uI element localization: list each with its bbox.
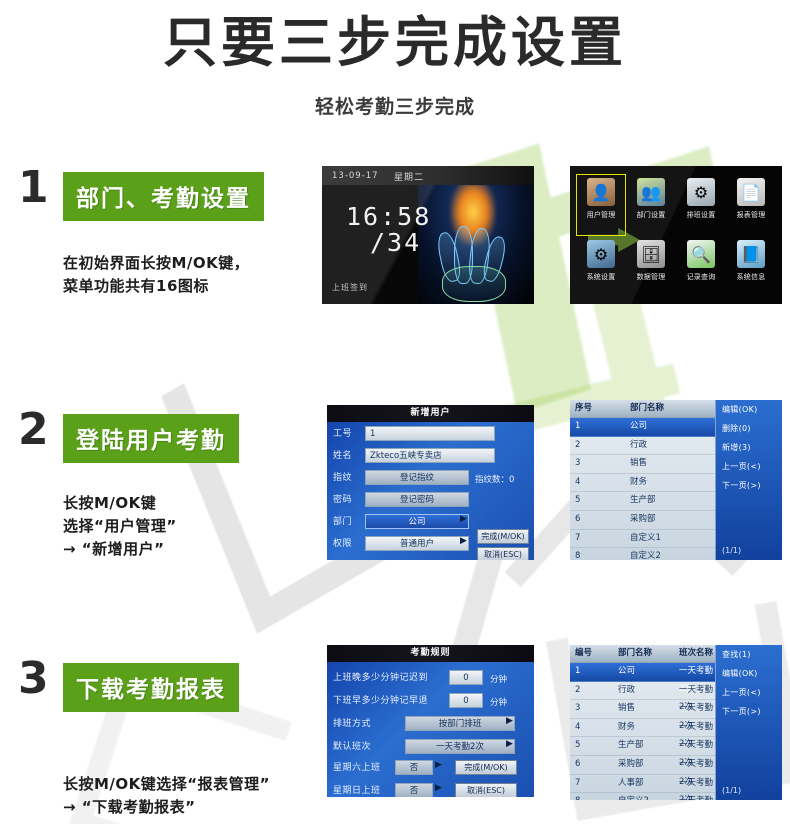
department-icon: 👥	[637, 178, 665, 206]
table-row[interactable]: 3 销售 一天考勤2次	[570, 700, 716, 719]
step-desc-line: 选择“用户管理”	[63, 515, 177, 538]
cell-dept: 销售	[613, 700, 674, 718]
table-row[interactable]: 1 公司 一天考勤2次	[570, 663, 716, 682]
table-row[interactable]: 7 人事部 一天考勤2次	[570, 775, 716, 794]
ok-button[interactable]: 完成(M/OK)	[477, 529, 529, 544]
cell-shift: 一天考勤2次	[674, 682, 716, 700]
cell-no: 7	[570, 530, 625, 548]
rule-label: 排班方式	[333, 715, 371, 733]
cell-dept: 生产部	[613, 737, 674, 755]
cell-name: 公司	[625, 418, 716, 436]
step-banner-label: 登陆用户考勤	[63, 414, 239, 463]
menu-item-data-management[interactable]: 🗄 数据管理	[626, 236, 676, 298]
table-row[interactable]: 6 采购部 一天考勤2次	[570, 756, 716, 775]
cell-no: 2	[570, 437, 625, 455]
menu-item-label: 报表管理	[726, 210, 776, 220]
table-row[interactable]: 4 财务 一天考勤2次	[570, 719, 716, 738]
step-description: 长按M/OK键选择“报表管理” → “下载考勤报表”	[63, 773, 270, 819]
action-edit[interactable]: 编辑(OK)	[716, 400, 782, 419]
column-header-shift: 班次名称	[674, 645, 716, 662]
enroll-password-button[interactable]: 登记密码	[365, 492, 469, 507]
department-list-screen: 序号 部门名称 1 公司 2 行政 3 销售 4 财务 5 生产部	[570, 400, 782, 560]
step-banner-label: 部门、考勤设置	[63, 172, 264, 221]
step-desc-line: → “新增用户”	[63, 538, 177, 561]
table-row[interactable]: 3 销售	[570, 455, 716, 474]
shift-mode-select[interactable]: 按部门排班	[405, 716, 515, 731]
cell-no: 7	[570, 775, 613, 793]
step-desc-line: 在初始界面长按M/OK键，	[63, 252, 249, 275]
cancel-button[interactable]: 取消(ESC)	[455, 783, 517, 797]
menu-icon-grid: 👤 用户管理 👥 部门设置 ⚙ 排班设置 📄 报表管理 ⚙	[576, 174, 776, 298]
column-header-no: 编号	[570, 645, 613, 662]
column-header-dept: 部门名称	[613, 645, 674, 662]
cell-shift: 一天考勤2次	[674, 737, 716, 755]
rule-row-late-threshold: 上班晚多少分钟记迟到 0 分钟	[327, 669, 534, 687]
page-subtitle: 轻松考勤三步完成	[0, 92, 790, 119]
menu-item-shift-settings[interactable]: ⚙ 排班设置	[676, 174, 726, 236]
rule-label: 星期六上班	[333, 759, 381, 777]
department-select[interactable]: 公司	[365, 514, 469, 529]
menu-item-label: 排班设置	[676, 210, 726, 220]
chevron-right-icon: ▶	[435, 760, 442, 770]
cancel-button[interactable]: 取消(ESC)	[477, 547, 529, 560]
cell-name: 生产部	[625, 492, 716, 510]
rule-row-early-leave-threshold: 下班早多少分钟记早退 0 分钟	[327, 692, 534, 710]
action-next-page[interactable]: 下一页(>)	[716, 702, 782, 721]
cell-name: 销售	[625, 455, 716, 473]
field-label: 工号	[333, 425, 352, 443]
menu-item-system-settings[interactable]: ⚙ 系统设置	[576, 236, 626, 298]
cell-shift: 一天考勤2次	[674, 719, 716, 737]
cell-no: 1	[570, 418, 625, 436]
rule-label: 星期日上班	[333, 782, 381, 797]
cell-name: 自定义1	[625, 530, 716, 548]
standby-weekday: 星期二	[394, 170, 424, 183]
search-record-icon: 🔍	[687, 240, 715, 268]
department-table: 序号 部门名称 1 公司 2 行政 3 销售 4 财务 5 生产部	[570, 400, 716, 560]
page-root: 只要三步完成设置 轻松考勤三步完成 1 部门、考勤设置 在初始界面长按M/OK键…	[0, 0, 790, 824]
action-search[interactable]: 查找(1)	[716, 645, 782, 664]
step-desc-line: 菜单功能共有16图标	[63, 275, 249, 298]
action-delete[interactable]: 删除(0)	[716, 419, 782, 438]
cell-no: 5	[570, 737, 613, 755]
cell-no: 1	[570, 663, 613, 681]
action-prev-page[interactable]: 上一页(<)	[716, 457, 782, 476]
rule-label: 下班早多少分钟记早退	[333, 692, 428, 710]
cell-dept: 采购部	[613, 756, 674, 774]
page-indicator: (1/1)	[722, 546, 741, 555]
menu-item-label: 用户管理	[576, 210, 626, 220]
menu-item-label: 数据管理	[626, 272, 676, 282]
user-add-icon: 👤	[587, 178, 615, 206]
cell-shift: 一天考勤2次	[674, 793, 716, 800]
menu-item-user-management[interactable]: 👤 用户管理	[576, 174, 626, 236]
privilege-select[interactable]: 普通用户	[365, 536, 469, 551]
fingerprint-count-label: 指纹数：0	[475, 473, 514, 485]
dialog-title: 考勤规则	[327, 645, 534, 662]
form-row-fingerprint: 指纹 登记指纹 指纹数：0	[327, 469, 534, 487]
database-icon: 🗄	[637, 240, 665, 268]
new-user-dialog: 新增用户 工号 1 姓名 Zkteco五峡专卖店 指纹 登记指纹 指纹数：0 密…	[327, 405, 534, 560]
menu-item-report-management[interactable]: 📄 报表管理	[726, 174, 776, 236]
step-number: 1	[18, 166, 49, 210]
menu-item-record-query[interactable]: 🔍 记录查询	[676, 236, 726, 298]
cell-name: 采购部	[625, 511, 716, 529]
cell-no: 4	[570, 474, 625, 492]
action-add[interactable]: 新增(3)	[716, 438, 782, 457]
cell-dept: 公司	[613, 663, 674, 681]
menu-item-label: 系统信息	[726, 272, 776, 282]
step-description: 在初始界面长按M/OK键， 菜单功能共有16图标	[63, 252, 249, 298]
cell-shift: 一天考勤2次	[674, 700, 716, 718]
page-indicator: (1/1)	[722, 786, 741, 795]
form-row-name: 姓名 Zkteco五峡专卖店	[327, 447, 534, 465]
table-row[interactable]: 8 自定义2	[570, 548, 716, 560]
saturday-work-select[interactable]: 否	[395, 760, 433, 775]
cell-dept: 人事部	[613, 775, 674, 793]
menu-item-system-info[interactable]: 📘 系统信息	[726, 236, 776, 298]
cell-dept: 行政	[613, 682, 674, 700]
standby-time: 16:58	[346, 202, 431, 231]
chevron-right-icon: ▶	[435, 783, 442, 793]
action-prev-page[interactable]: 上一页(<)	[716, 683, 782, 702]
system-gear-icon: ⚙	[587, 240, 615, 268]
field-label: 部门	[333, 513, 352, 531]
menu-row-1: 👤 用户管理 👥 部门设置 ⚙ 排班设置 📄 报表管理	[576, 174, 776, 236]
cell-no: 6	[570, 511, 625, 529]
table-row[interactable]: 4 财务	[570, 474, 716, 493]
report-icon: 📄	[737, 178, 765, 206]
rule-row-saturday: 星期六上班 否 ▶ 完成(M/OK)	[327, 759, 534, 777]
early-leave-minutes-input[interactable]: 0	[449, 693, 483, 708]
device-main-menu-screen: 👤 用户管理 👥 部门设置 ⚙ 排班设置 📄 报表管理 ⚙	[570, 166, 782, 304]
system-info-icon: 📘	[737, 240, 765, 268]
chevron-right-icon: ▶	[506, 739, 513, 749]
action-next-page[interactable]: 下一页(>)	[716, 476, 782, 495]
step-banner-label: 下载考勤报表	[63, 663, 239, 712]
step-number: 3	[18, 657, 49, 701]
shift-table: 编号 部门名称 班次名称 1 公司 一天考勤2次 2 行政 一天考勤2次 3 销…	[570, 645, 716, 800]
step-desc-line: 长按M/OK键	[63, 492, 177, 515]
standby-seconds: /34	[370, 228, 421, 257]
field-label: 指纹	[333, 469, 352, 487]
step-description: 长按M/OK键 选择“用户管理” → “新增用户”	[63, 492, 177, 561]
employee-no-input[interactable]: 1	[365, 426, 495, 441]
standby-top-bar: 13-09-17 星期二	[322, 166, 534, 185]
rule-label: 默认班次	[333, 738, 371, 756]
dialog-title: 新增用户	[327, 405, 534, 422]
cell-dept: 自定义2	[613, 793, 674, 800]
cell-no: 5	[570, 492, 625, 510]
field-label: 姓名	[333, 447, 352, 465]
cell-no: 6	[570, 756, 613, 774]
cell-no: 2	[570, 682, 613, 700]
table-row[interactable]: 5 生产部	[570, 492, 716, 511]
table-row[interactable]: 5 生产部 一天考勤2次	[570, 737, 716, 756]
menu-item-label: 系统设置	[576, 272, 626, 282]
menu-row-2: ⚙ 系统设置 🗄 数据管理 🔍 记录查询 📘 系统信息	[576, 236, 776, 298]
cell-no: 8	[570, 793, 613, 800]
table-header: 序号 部门名称	[570, 400, 716, 418]
rule-row-shift-mode: 排班方式 按部门排班 ▶	[327, 715, 534, 733]
attendance-rule-dialog: 考勤规则 上班晚多少分钟记迟到 0 分钟 下班早多少分钟记早退 0 分钟 排班方…	[327, 645, 534, 797]
table-row[interactable]: 2 行政 一天考勤2次	[570, 682, 716, 701]
ok-button[interactable]: 完成(M/OK)	[455, 760, 517, 775]
sunday-work-select[interactable]: 否	[395, 783, 433, 797]
default-shift-select[interactable]: 一天考勤2次	[405, 739, 515, 754]
field-label: 权限	[333, 535, 352, 553]
table-row[interactable]: 1 公司	[570, 418, 716, 437]
enroll-fingerprint-button[interactable]: 登记指纹	[365, 470, 469, 485]
table-row[interactable]: 6 采购部	[570, 511, 716, 530]
chevron-right-icon: ▶	[506, 716, 513, 726]
action-edit[interactable]: 编辑(OK)	[716, 664, 782, 683]
cell-name: 行政	[625, 437, 716, 455]
cell-shift: 一天考勤2次	[674, 663, 716, 681]
table-header: 编号 部门名称 班次名称	[570, 645, 716, 663]
cell-no: 3	[570, 455, 625, 473]
menu-item-department-settings[interactable]: 👥 部门设置	[626, 174, 676, 236]
unit-label: 分钟	[490, 673, 507, 685]
table-row[interactable]: 8 自定义2 一天考勤2次	[570, 793, 716, 800]
step-desc-line: 长按M/OK键选择“报表管理”	[63, 773, 270, 796]
unit-label: 分钟	[490, 696, 507, 708]
late-minutes-input[interactable]: 0	[449, 670, 483, 685]
column-header-no: 序号	[570, 400, 625, 417]
cell-name: 自定义2	[625, 548, 716, 560]
standby-status-label: 上班签到	[332, 282, 368, 293]
cell-no: 4	[570, 719, 613, 737]
menu-item-label: 记录查询	[676, 272, 726, 282]
standby-date: 13-09-17	[332, 171, 379, 181]
rule-row-sunday: 星期日上班 否 ▶ 取消(ESC)	[327, 782, 534, 797]
menu-item-label: 部门设置	[626, 210, 676, 220]
cell-shift: 一天考勤2次	[674, 756, 716, 774]
table-row[interactable]: 7 自定义1	[570, 530, 716, 549]
shift-gear-icon: ⚙	[687, 178, 715, 206]
form-row-password: 密码 登记密码	[327, 491, 534, 509]
table-row[interactable]: 2 行政	[570, 437, 716, 456]
cell-no: 3	[570, 700, 613, 718]
rule-label: 上班晚多少分钟记迟到	[333, 669, 428, 687]
chevron-right-icon: ▶	[460, 514, 467, 524]
cell-name: 财务	[625, 474, 716, 492]
cell-dept: 财务	[613, 719, 674, 737]
rule-row-default-shift: 默认班次 一天考勤2次 ▶	[327, 738, 534, 756]
page-title: 只要三步完成设置	[0, 12, 790, 74]
shift-list-screen: 编号 部门名称 班次名称 1 公司 一天考勤2次 2 行政 一天考勤2次 3 销…	[570, 645, 782, 800]
form-row-employee-no: 工号 1	[327, 425, 534, 443]
shift-action-panel: 查找(1) 编辑(OK) 上一页(<) 下一页(>) (1/1)	[715, 645, 782, 800]
chevron-right-icon: ▶	[460, 536, 467, 546]
cell-no: 8	[570, 548, 625, 560]
department-action-panel: 编辑(OK) 删除(0) 新增(3) 上一页(<) 下一页(>) (1/1)	[715, 400, 782, 560]
device-standby-screen: 13-09-17 星期二 16:58 /34 上班签到	[322, 166, 534, 304]
name-input[interactable]: Zkteco五峡专卖店	[365, 448, 495, 463]
column-header-name: 部门名称	[625, 400, 716, 417]
cell-shift: 一天考勤2次	[674, 775, 716, 793]
step-number: 2	[18, 408, 49, 452]
step-desc-line: → “下载考勤报表”	[63, 796, 270, 819]
field-label: 密码	[333, 491, 352, 509]
